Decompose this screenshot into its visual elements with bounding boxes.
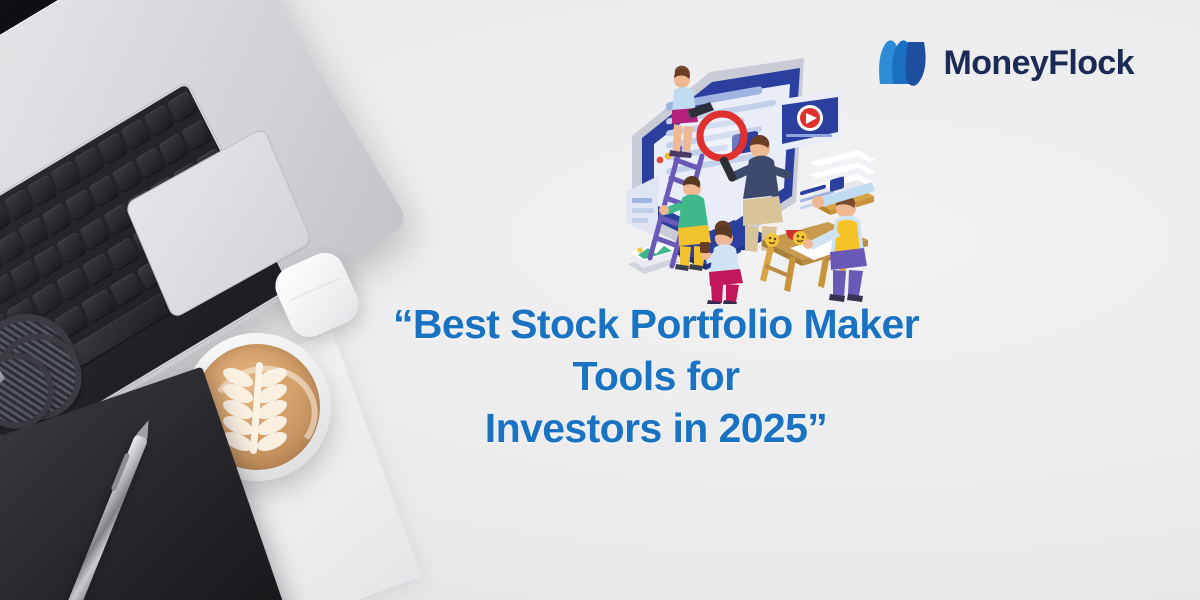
video-player-card bbox=[776, 90, 842, 152]
headline-line-1: “Best Stock Portfolio Maker Tools for bbox=[393, 301, 919, 399]
brand-name: MoneyFlock bbox=[944, 44, 1134, 83]
monitor-side-panel bbox=[626, 176, 658, 238]
headline-line-2: Investors in 2025” bbox=[356, 402, 956, 454]
team-dashboard-illustration bbox=[614, 52, 886, 304]
brand-logo[interactable]: MoneyFlock bbox=[876, 38, 1134, 88]
moneyflock-m-logo-icon bbox=[876, 38, 928, 88]
blog-banner: MoneyFlock “Best Stock Portfolio Maker T… bbox=[0, 0, 1200, 600]
page-title: “Best Stock Portfolio Maker Tools for In… bbox=[356, 298, 956, 454]
